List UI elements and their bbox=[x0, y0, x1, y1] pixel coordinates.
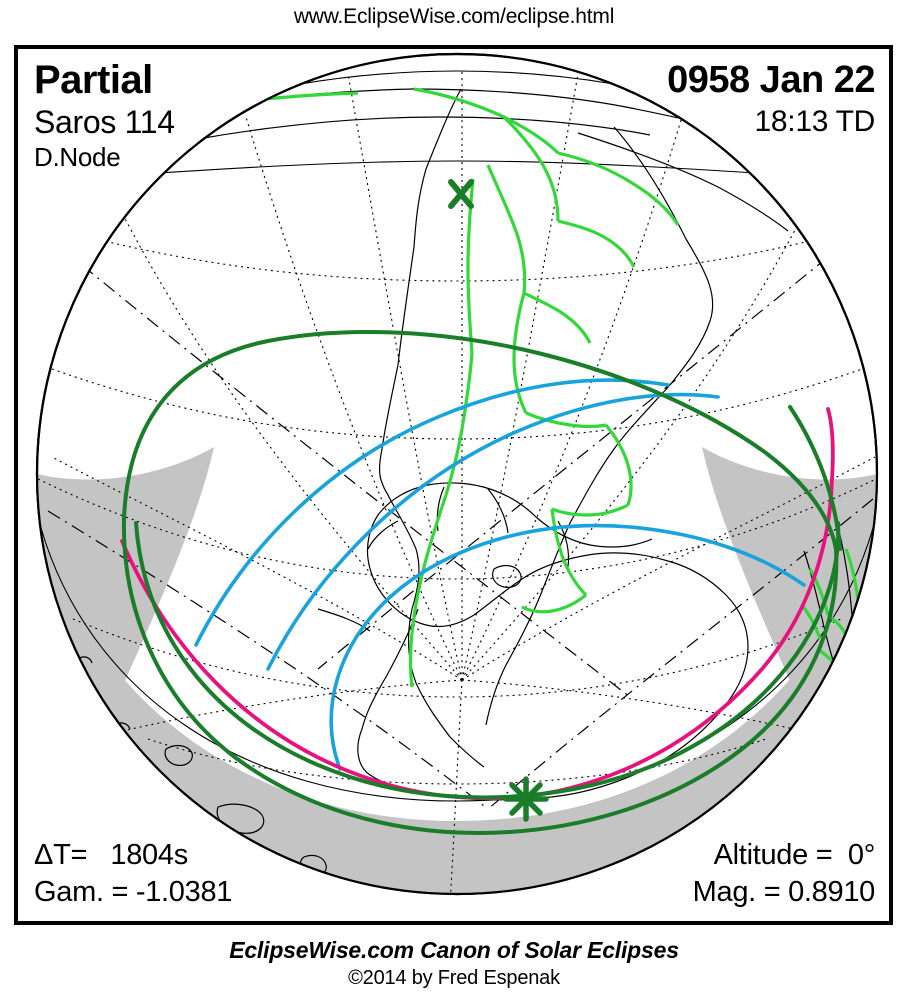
footer-title: EclipseWise.com Canon of Solar Eclipses bbox=[0, 936, 908, 964]
eclipse-info-bottom-right: Altitude = 0° Mag. = 0.8910 bbox=[693, 837, 875, 911]
gamma-value: Gam. = -1.0381 bbox=[34, 874, 232, 911]
eclipse-map-page: www.EclipseWise.com/eclipse.html bbox=[0, 0, 908, 1004]
site-url-caption: www.EclipseWise.com/eclipse.html bbox=[0, 4, 908, 30]
eclipse-date-label: 0958 Jan 22 bbox=[667, 57, 875, 103]
node-label: D.Node bbox=[34, 141, 175, 173]
greatest-eclipse-asterisk-marker bbox=[506, 779, 546, 819]
eclipse-info-top-left: Partial Saros 114 D.Node bbox=[34, 57, 175, 173]
saros-label: Saros 114 bbox=[34, 103, 175, 141]
magnitude-value: Mag. = 0.8910 bbox=[693, 874, 875, 911]
delta-t-value: ΔT= 1804s bbox=[34, 837, 232, 874]
eclipse-time-label: 18:13 TD bbox=[667, 103, 875, 141]
eclipse-chart-frame: Partial Saros 114 D.Node 0958 Jan 22 18:… bbox=[14, 45, 893, 925]
altitude-value: Altitude = 0° bbox=[693, 837, 875, 874]
eclipse-type-label: Partial bbox=[34, 57, 175, 103]
eclipse-info-top-right: 0958 Jan 22 18:13 TD bbox=[667, 57, 875, 141]
eclipse-info-bottom-left: ΔT= 1804s Gam. = -1.0381 bbox=[34, 837, 232, 911]
footer-credit: ©2014 by Fred Espenak bbox=[0, 966, 908, 991]
globe-graphic bbox=[18, 49, 889, 921]
